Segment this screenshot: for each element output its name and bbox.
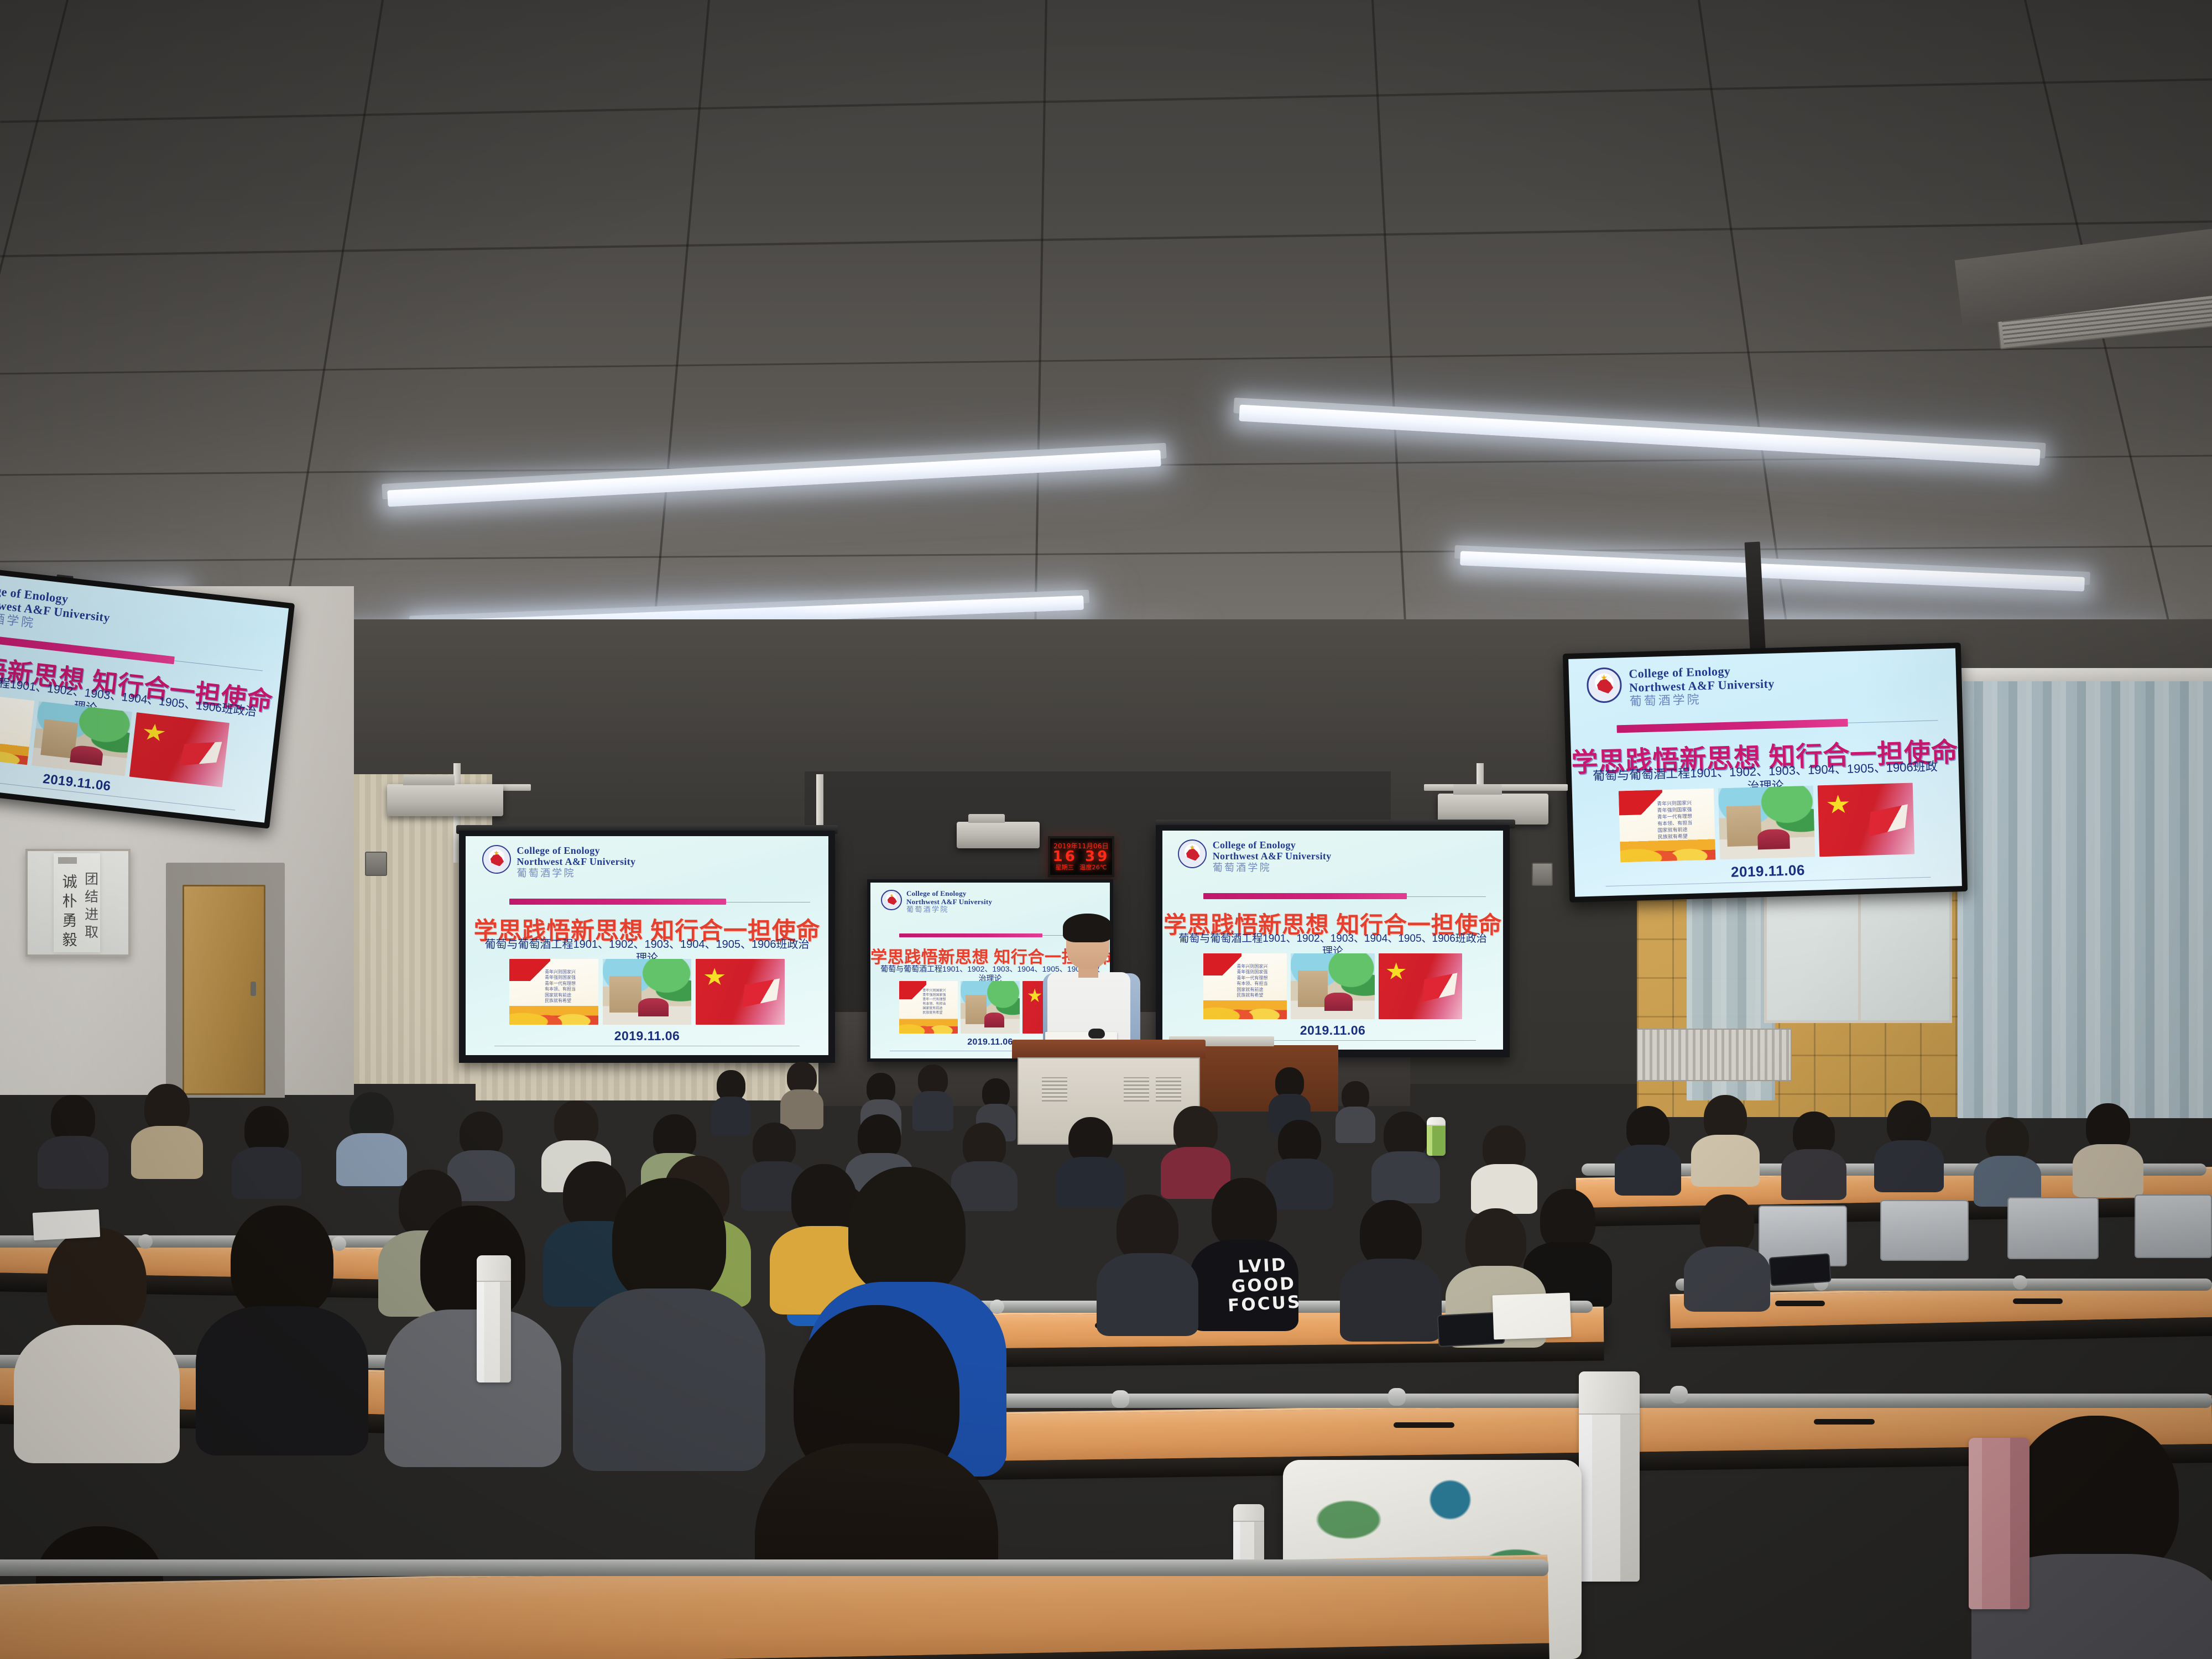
podium-mouse — [1088, 1029, 1105, 1039]
student-body — [912, 1091, 953, 1131]
slide-image-strip: 青年兴则国家兴 青年强则国家强 青年一代有理想 有本领、有担当 国家就有前途 民… — [509, 959, 785, 1025]
slide-logo: College of Enology Northwest A&F Univers… — [482, 845, 636, 879]
slide-image-campus — [603, 959, 692, 1025]
student-head — [1117, 1194, 1178, 1262]
projection-screen-right: College of Enology Northwest A&F Univers… — [1156, 825, 1510, 1057]
university-crest-icon — [1178, 839, 1207, 868]
lecture-hall-photo: 诚朴勇毅 团结进取 College of Enology Northwest A… — [0, 0, 2212, 1659]
white-thermos[interactable] — [1579, 1371, 1640, 1582]
calligraphy-column-1: 诚朴勇毅 — [58, 874, 80, 951]
pink-thermos[interactable] — [1969, 1438, 2030, 1609]
student-body — [1691, 1135, 1760, 1187]
student-body — [1340, 1259, 1442, 1342]
student-body — [14, 1325, 180, 1463]
student-body — [196, 1306, 368, 1455]
wall-speaker-left — [365, 852, 387, 876]
desk-rail-cap — [1388, 1388, 1406, 1406]
led-wall-clock: 2019年11月06日 16 39 星期三 温度26℃ — [1048, 836, 1114, 877]
wall-speaker-right — [1532, 863, 1553, 886]
student-body — [1335, 1107, 1375, 1143]
student-head — [47, 1228, 147, 1337]
student-body — [1615, 1145, 1681, 1196]
org-en-line1: College of Enology — [517, 845, 636, 857]
projector-left — [387, 784, 503, 816]
university-crest-icon — [482, 845, 511, 874]
slide-logo-right: College of Enology Northwest A&F Univers… — [1586, 663, 1775, 710]
jacket-print-text: LVID GOOD FOCUS — [1209, 1254, 1317, 1317]
presenter-hair — [1063, 914, 1113, 942]
student-body — [1371, 1151, 1440, 1203]
classroom-door[interactable] — [182, 885, 265, 1095]
student-body — [384, 1310, 561, 1467]
student-head — [848, 1167, 966, 1295]
org-en-line2: Northwest A&F University — [906, 898, 992, 906]
tv-left: College of Enology Northwest A&F Univers… — [0, 559, 295, 829]
desk-cable-slot — [1775, 1301, 1825, 1306]
seat-back — [1880, 1200, 1969, 1261]
student-body — [131, 1126, 203, 1179]
slide-logo: College of Enology Northwest A&F Univers… — [1178, 839, 1332, 874]
calligraphy-column-2: 团结进取 — [80, 872, 100, 942]
student-body — [1781, 1149, 1846, 1200]
slide-image-strip: 青年兴则国家兴 青年强则国家强 青年一代有理想 有本领、有担当 国家就有前途 民… — [1203, 953, 1462, 1019]
student-head — [144, 1084, 190, 1133]
desk-rail — [874, 1394, 2212, 1408]
slide-accent-rule — [1617, 720, 1938, 729]
slide-poem: 青年兴则国家兴 青年强则国家强 青年一代有理想 有本领、有担当 国家就有前途 民… — [545, 969, 586, 1004]
tv-right: College of Enology Northwest A&F Univers… — [1563, 643, 1968, 902]
seat-back — [2135, 1194, 2212, 1258]
led-weekday: 星期三 — [1055, 864, 1074, 870]
slide-image-patriotic: 青年兴则国家兴 青年强则国家强 青年一代有理想 有本领、有担当 国家就有前途 民… — [899, 981, 958, 1034]
student-body — [2073, 1144, 2143, 1197]
desk-rail-cap — [1112, 1390, 1129, 1408]
slide-image-flag — [129, 713, 229, 787]
desk-rail-foreground — [0, 1559, 1548, 1576]
student-head — [612, 1178, 726, 1303]
student-body — [711, 1097, 751, 1135]
student-body — [232, 1147, 301, 1199]
led-hours: 16 — [1052, 849, 1077, 864]
student-head — [1360, 1200, 1422, 1267]
slide-accent-rule — [509, 902, 810, 902]
slide-image-patriotic: 青年兴则国家兴 青年强则国家强 青年一代有理想 有本领、有担当 国家就有前途 民… — [509, 959, 598, 1025]
ceiling-tube-light — [1239, 405, 2040, 466]
student-body — [1874, 1140, 1944, 1192]
student-body — [1684, 1246, 1770, 1312]
smartphone-on-desk-2[interactable] — [1768, 1253, 1831, 1286]
jacket-text-line1: LVID GOOD — [1209, 1254, 1316, 1297]
slide-image-flag — [696, 959, 785, 1025]
org-en-line1: College of Enology — [906, 890, 992, 898]
desk-rail-cap — [1670, 1386, 1688, 1404]
slide-bottom-rule — [494, 1046, 799, 1046]
desk-cable-slot — [1814, 1419, 1875, 1425]
slide-accent-rule — [1203, 896, 1486, 897]
desk-rail-cap — [2013, 1275, 2027, 1290]
student-body — [1471, 1164, 1537, 1214]
org-cn: 葡萄酒学院 — [906, 906, 992, 914]
slide-image-patriotic: 青年兴则国家兴 青年强则国家强 青年一代有理想 有本领、有担当 国家就有前途 民… — [1619, 788, 1715, 862]
led-temperature: 温度26℃ — [1079, 864, 1107, 870]
student-head — [1212, 1178, 1277, 1249]
desk-cable-slot — [2013, 1298, 2063, 1304]
slide-image-patriotic — [0, 690, 34, 765]
university-crest-icon — [1586, 667, 1623, 703]
paper-sheet-left[interactable] — [33, 1209, 100, 1240]
desk-cable-slot — [1394, 1422, 1454, 1428]
notebook-on-desk[interactable] — [1493, 1293, 1572, 1340]
slide-image-flag — [1818, 782, 1914, 857]
led-minutes: 39 — [1085, 849, 1110, 864]
org-cn: 葡萄酒学院 — [517, 868, 636, 879]
slide-image-campus — [961, 981, 1019, 1034]
podium-top — [1012, 1040, 1206, 1058]
slide-image-flag — [1379, 953, 1462, 1019]
slide-logo: College of Enology Northwest A&F Univers… — [881, 890, 992, 914]
slide-image-strip: 青年兴则国家兴 青年强则国家强 青年一代有理想 有本领、有担当 国家就有前途 民… — [1619, 782, 1914, 862]
window-curtain[interactable] — [1958, 681, 2212, 1118]
student-body — [573, 1288, 765, 1471]
slide-poem: 青年兴则国家兴 青年强则国家强 青年一代有理想 有本领、有担当 国家就有前途 民… — [922, 989, 950, 1015]
org-en-line2: Northwest A&F University — [517, 856, 636, 868]
slide-image-patriotic: 青年兴则国家兴 青年强则国家强 青年一代有理想 有本领、有担当 国家就有前途 民… — [1203, 953, 1287, 1019]
slide-poem: 青年兴则国家兴 青年强则国家强 青年一代有理想 有本领、有担当 国家就有前途 民… — [1237, 964, 1275, 999]
seat-back — [2007, 1197, 2099, 1259]
green-bottle-mid[interactable] — [1427, 1117, 1446, 1156]
wall-calligraphy-frame: 诚朴勇毅 团结进取 — [25, 849, 131, 957]
slide-logo-left: College of Enology Northwest A&F Univers… — [0, 576, 112, 638]
student-head — [1700, 1194, 1754, 1254]
slide-image-campus — [1718, 785, 1815, 859]
university-crest-icon — [881, 890, 902, 911]
student-body — [1097, 1253, 1198, 1336]
white-bottle-left[interactable] — [477, 1255, 511, 1383]
org-cn: 葡萄酒学院 — [1213, 862, 1332, 874]
wall-radiator — [1637, 1029, 1792, 1081]
org-en-line1: College of Enology — [1213, 839, 1332, 851]
student-head — [1465, 1208, 1526, 1275]
slide-poem: 青年兴则国家兴 青年强则国家强 青年一代有理想 有本领、有担当 国家就有前途 民… — [1657, 800, 1702, 841]
projection-screen-left: College of Enology Northwest A&F Univers… — [459, 831, 835, 1063]
student-body — [38, 1136, 108, 1189]
student-head — [231, 1206, 333, 1318]
org-en-line2: Northwest A&F University — [1213, 851, 1332, 862]
slide-date: 2019.11.06 — [466, 1029, 828, 1044]
projector-center — [957, 822, 1040, 848]
slide-image-campus — [1291, 953, 1374, 1019]
slide-image-campus — [32, 701, 132, 776]
